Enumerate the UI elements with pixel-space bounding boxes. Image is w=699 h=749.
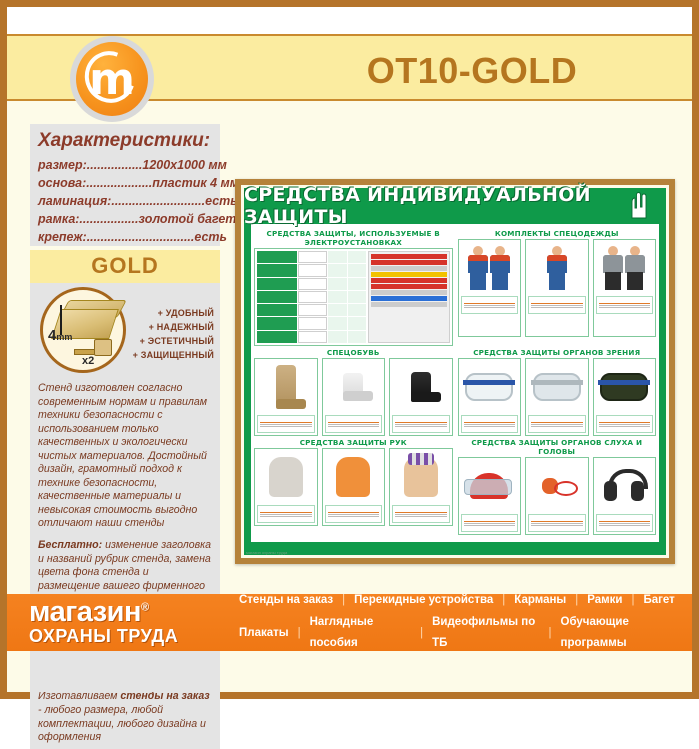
table-row (257, 331, 366, 343)
product-cell[interactable] (593, 358, 657, 436)
feature-list: + УДОБНЫЙ + НАДЕЖНЫЙ + ЭСТЕТИЧНЫЙ + ЗАЩИ… (133, 307, 214, 363)
description-paragraph: Стенд изготовлен согласно современным но… (30, 375, 220, 535)
rubber-glove-icon (336, 457, 370, 497)
electro-section: СРЕДСТВА ЗАЩИТЫ, ИСПОЛЬЗУЕМЫЕ В ЭЛЕКТРОУ… (254, 227, 453, 346)
footer-link-posters[interactable]: Плакаты (239, 623, 289, 645)
separator: | (631, 590, 634, 612)
product-cell[interactable] (458, 239, 522, 337)
product-cell[interactable] (525, 239, 589, 337)
head-hearing-cells (458, 457, 657, 535)
safety-glove-icon (624, 192, 652, 220)
product-image (528, 361, 586, 413)
product-caption (528, 296, 586, 314)
spec-row-mount: крепеж:...............................ес… (30, 228, 220, 246)
product-cell[interactable] (254, 358, 318, 436)
footer-brand-line2: ОХРАНЫ ТРУДА (29, 627, 239, 646)
earplug-icon (542, 478, 572, 494)
product-image (392, 361, 450, 413)
product-image (461, 242, 519, 294)
worker-gray-icon (602, 246, 624, 290)
product-caption (596, 514, 654, 532)
worker-gray-icon (624, 246, 646, 290)
table-row (257, 291, 366, 303)
product-image (461, 460, 519, 512)
section-heading: СРЕДСТВА ЗАЩИТЫ ОРГАНОВ ЗРЕНИЯ (458, 346, 657, 358)
head-hearing-section: СРЕДСТВА ЗАЩИТЫ ОРГАНОВ СЛУХА И ГОЛОВЫ (458, 436, 657, 535)
product-caption (257, 415, 315, 433)
footer-link-videos[interactable]: Видеофильмы по ТБ (432, 612, 539, 656)
product-image (596, 361, 654, 413)
product-cell[interactable] (389, 448, 453, 526)
frame-diagram: 4mm x2 + УДОБНЫЙ + НАДЕЖНЫЙ + ЭСТЕТИЧНЫЙ… (30, 283, 220, 375)
section-heading: СРЕДСТВА ЗАЩИТЫ РУК (254, 436, 453, 448)
product-caption (461, 415, 519, 433)
page-title: ОТ10-GOLD (307, 47, 637, 95)
footer-link-pockets[interactable]: Карманы (514, 590, 566, 612)
footer-menu-row-2: Плакаты | Наглядные пособия | Видеофильм… (239, 612, 682, 656)
feature-item: + ЭСТЕТИЧНЫЙ (133, 335, 214, 349)
sign-band-red (371, 260, 446, 265)
product-caption (392, 505, 450, 523)
eye-protection-cells (458, 358, 657, 436)
face-shield-icon (465, 373, 513, 401)
spec-title: Характеристики: (30, 124, 220, 156)
product-image (325, 361, 383, 413)
footer-brand-word: магазин (29, 596, 141, 628)
product-caption (461, 296, 519, 314)
footer-brand[interactable]: магазин® ОХРАНЫ ТРУДА (7, 599, 239, 645)
product-cell[interactable] (525, 358, 589, 436)
product-caption (257, 505, 315, 523)
footer-link-baguette[interactable]: Багет (643, 590, 674, 612)
stand-preview[interactable]: СРЕДСТВА ИНДИВИДУАЛЬНОЙ ЗАЩИТЫ СРЕДСТВА … (235, 179, 675, 564)
product-cell[interactable] (458, 457, 522, 535)
rubber-boot-icon (276, 365, 296, 409)
footer-menu: Стенды на заказ | Перекидные устройства … (239, 590, 692, 656)
spec-row-size: размер:................1200х1000 мм (30, 156, 220, 174)
registered-mark-icon: ® (141, 602, 149, 614)
thickness-label: 4mm (48, 327, 72, 344)
stand-row-3: СРЕДСТВА ЗАЩИТЫ РУК (254, 436, 656, 535)
stand-title: СРЕДСТВА ИНДИВИДУАЛЬНОЙ ЗАЩИТЫ (244, 184, 666, 228)
fabric-glove-icon (269, 457, 303, 497)
product-caption (392, 415, 450, 433)
sign-band-gray (371, 266, 446, 271)
product-caption (325, 415, 383, 433)
product-page: m ОТ10-GOLD Характеристики: размер:.....… (0, 0, 699, 699)
sign-band-yellow (371, 272, 446, 277)
product-cell[interactable] (254, 448, 318, 526)
logo-m-icon: m (76, 42, 148, 116)
hand-protection-section: СРЕДСТВА ЗАЩИТЫ РУК (254, 436, 453, 535)
stand-board: СРЕДСТВА ИНДИВИДУАЛЬНОЙ ЗАЩИТЫ СРЕДСТВА … (244, 188, 666, 555)
spec-row-base: основа:...................пластик 4 мм (30, 174, 220, 192)
product-cell[interactable] (593, 239, 657, 337)
product-cell[interactable] (593, 457, 657, 535)
section-heading: СРЕДСТВА ЗАЩИТЫ ОРГАНОВ СЛУХА И ГОЛОВЫ (458, 436, 657, 457)
product-image (528, 242, 586, 294)
separator: | (298, 623, 301, 645)
sign-band-blue (371, 296, 446, 301)
spec-row-lamination: ламинация:...........................ест… (30, 192, 220, 210)
site-footer: магазин® ОХРАНЫ ТРУДА Стенды на заказ | … (7, 594, 692, 651)
product-image (461, 361, 519, 413)
table-row (257, 264, 366, 276)
sign-band-red (371, 284, 446, 289)
footer-menu-row-1: Стенды на заказ | Перекидные устройства … (239, 590, 682, 612)
product-caption (461, 514, 519, 532)
spec-row-frame: рамка:.................золотой багет (30, 210, 220, 228)
workwear-section: КОМПЛЕКТЫ СПЕЦОДЕЖДЫ (458, 227, 657, 346)
product-image (257, 361, 315, 413)
table-row (257, 317, 366, 329)
product-image (596, 460, 654, 512)
left-column-bottom-fill (30, 651, 220, 692)
footer-link-visual-aids[interactable]: Наглядные пособия (310, 612, 412, 656)
grade-badge: GOLD (30, 250, 220, 283)
product-cell[interactable] (458, 358, 522, 436)
knitted-glove-icon (404, 457, 438, 497)
table-row (257, 304, 366, 316)
separator: | (342, 590, 345, 612)
footwear-cells (254, 358, 453, 436)
white-bootie-icon (343, 373, 363, 401)
stand-watermark: магазин охраны труда (244, 549, 666, 555)
sign-band-gray (371, 290, 446, 295)
description-block: Стенд изготовлен согласно современным но… (30, 375, 220, 749)
product-caption (596, 415, 654, 433)
separator: | (549, 623, 552, 645)
separator: | (575, 590, 578, 612)
feature-item: + ЗАЩИЩЕННЫЙ (133, 349, 214, 363)
product-cell[interactable] (322, 448, 386, 526)
product-caption (596, 296, 654, 314)
table-row (257, 251, 366, 263)
footwear-section: СПЕЦОБУВЬ (254, 346, 453, 436)
product-caption (528, 514, 586, 532)
product-caption (325, 505, 383, 523)
product-cell[interactable] (322, 358, 386, 436)
hand-protection-cells (254, 448, 453, 526)
product-cell[interactable] (389, 358, 453, 436)
workwear-cells (458, 239, 657, 337)
safety-goggles-icon (533, 373, 581, 401)
mount-plate-icon (94, 339, 112, 356)
feature-item: + НАДЕЖНЫЙ (133, 321, 214, 335)
footer-link-training[interactable]: Обучающие программы (561, 612, 683, 656)
table-row (257, 278, 366, 290)
product-image (528, 460, 586, 512)
separator: | (420, 623, 423, 645)
separator: | (502, 590, 505, 612)
thickness-unit: mm (56, 332, 72, 342)
spec-block: Характеристики: размер:................1… (30, 124, 220, 246)
product-caption (528, 415, 586, 433)
stand-row-2: СПЕЦОБУВЬ (254, 346, 656, 436)
section-heading: СПЕЦОБУВЬ (254, 346, 453, 358)
product-image (392, 451, 450, 503)
header-white-strip (7, 7, 692, 34)
description-paragraph-order: Изготавливаем стенды на заказ - любого р… (30, 686, 220, 748)
safety-shoe-icon (411, 372, 431, 402)
ear-muffs-icon (604, 469, 644, 503)
sku-text: ОТ10-GOLD (367, 50, 578, 92)
product-cell[interactable] (525, 457, 589, 535)
footer-link-stands[interactable]: Стенды на заказ (239, 590, 333, 612)
helmet-with-visor-icon (470, 473, 508, 499)
section-heading: СРЕДСТВА ЗАЩИТЫ, ИСПОЛЬЗУЕМЫЕ В ЭЛЕКТРОУ… (254, 227, 453, 248)
feature-item: + УДОБНЫЙ (133, 307, 214, 321)
electro-table-block (254, 248, 453, 346)
brand-logo[interactable]: m (64, 34, 160, 124)
footer-link-frames[interactable]: Рамки (587, 590, 622, 612)
stand-row-1: СРЕДСТВА ЗАЩИТЫ, ИСПОЛЬЗУЕМЫЕ В ЭЛЕКТРОУ… (254, 227, 656, 346)
eye-protection-section: СРЕДСТВА ЗАЩИТЫ ОРГАНОВ ЗРЕНИЯ (458, 346, 657, 436)
product-image (596, 242, 654, 294)
sign-band-red (371, 278, 446, 283)
stand-content: СРЕДСТВА ЗАЩИТЫ, ИСПОЛЬЗУЕМЫЕ В ЭЛЕКТРОУ… (251, 224, 659, 542)
welding-goggles-icon (600, 373, 648, 401)
sign-band-gray (371, 302, 446, 307)
electro-table (257, 251, 366, 343)
footer-brand-line1: магазин® (29, 599, 149, 627)
section-heading: КОМПЛЕКТЫ СПЕЦОДЕЖДЫ (458, 227, 657, 239)
stand-title-bar: СРЕДСТВА ИНДИВИДУАЛЬНОЙ ЗАЩИТЫ (244, 188, 666, 224)
worker-blue-icon (489, 246, 511, 290)
safety-signs-sheet (368, 251, 449, 343)
product-image (257, 451, 315, 503)
screw-count: x2 (82, 355, 94, 367)
footer-link-flip-systems[interactable]: Перекидные устройства (354, 590, 493, 612)
worker-blue-icon (546, 246, 568, 290)
product-image (325, 451, 383, 503)
sign-band-red (371, 254, 446, 259)
worker-blue-icon (467, 246, 489, 290)
